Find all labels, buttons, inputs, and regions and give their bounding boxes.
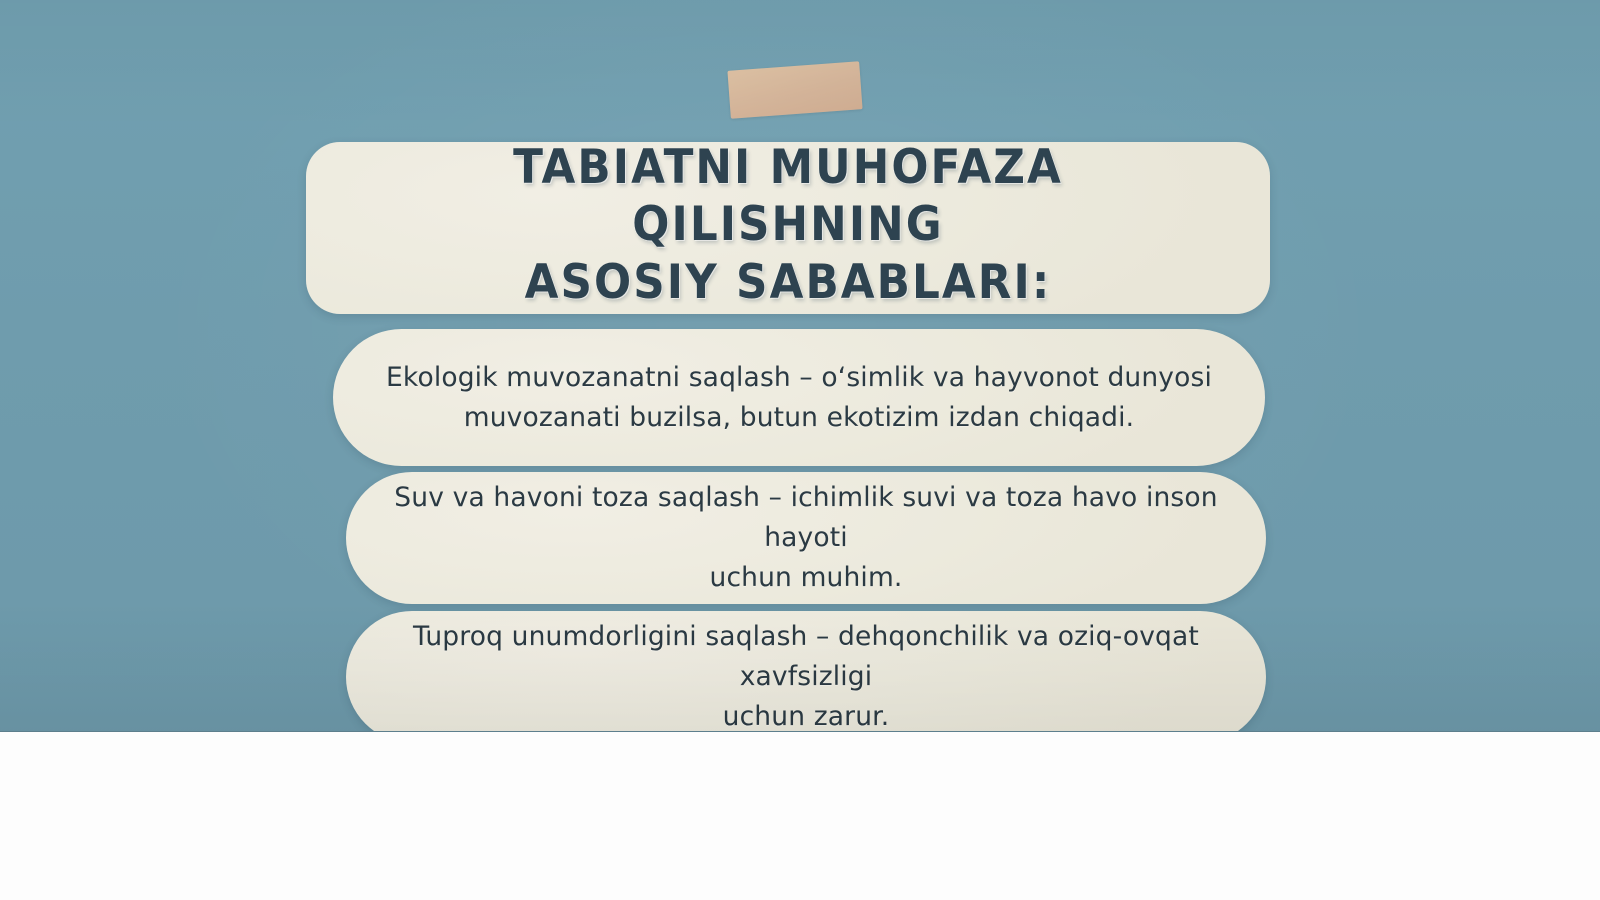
- slide-canvas: TABIATNI MUHOFAZA QILISHNING ASOSIY SABA…: [0, 0, 1600, 731]
- bullet-card-2: Suv va havoni toza saqlash – ichimlik su…: [346, 472, 1266, 604]
- title-card: TABIATNI MUHOFAZA QILISHNING ASOSIY SABA…: [306, 142, 1270, 314]
- bullet-text-1: Ekologik muvozanatni saqlash – o‘simlik …: [369, 358, 1229, 438]
- bullet-card-1: Ekologik muvozanatni saqlash – o‘simlik …: [333, 329, 1265, 466]
- bullet-text-2: Suv va havoni toza saqlash – ichimlik su…: [380, 478, 1232, 597]
- bullet-card-3: Tuproq unumdorligini saqlash – dehqonchi…: [346, 611, 1266, 731]
- washi-tape-decoration: [727, 61, 862, 119]
- page-title: TABIATNI MUHOFAZA QILISHNING ASOSIY SABA…: [379, 139, 1197, 311]
- slide-root: TABIATNI MUHOFAZA QILISHNING ASOSIY SABA…: [0, 0, 1600, 900]
- page-white-area: [0, 731, 1600, 900]
- bullet-text-3: Tuproq unumdorligini saqlash – dehqonchi…: [380, 617, 1232, 731]
